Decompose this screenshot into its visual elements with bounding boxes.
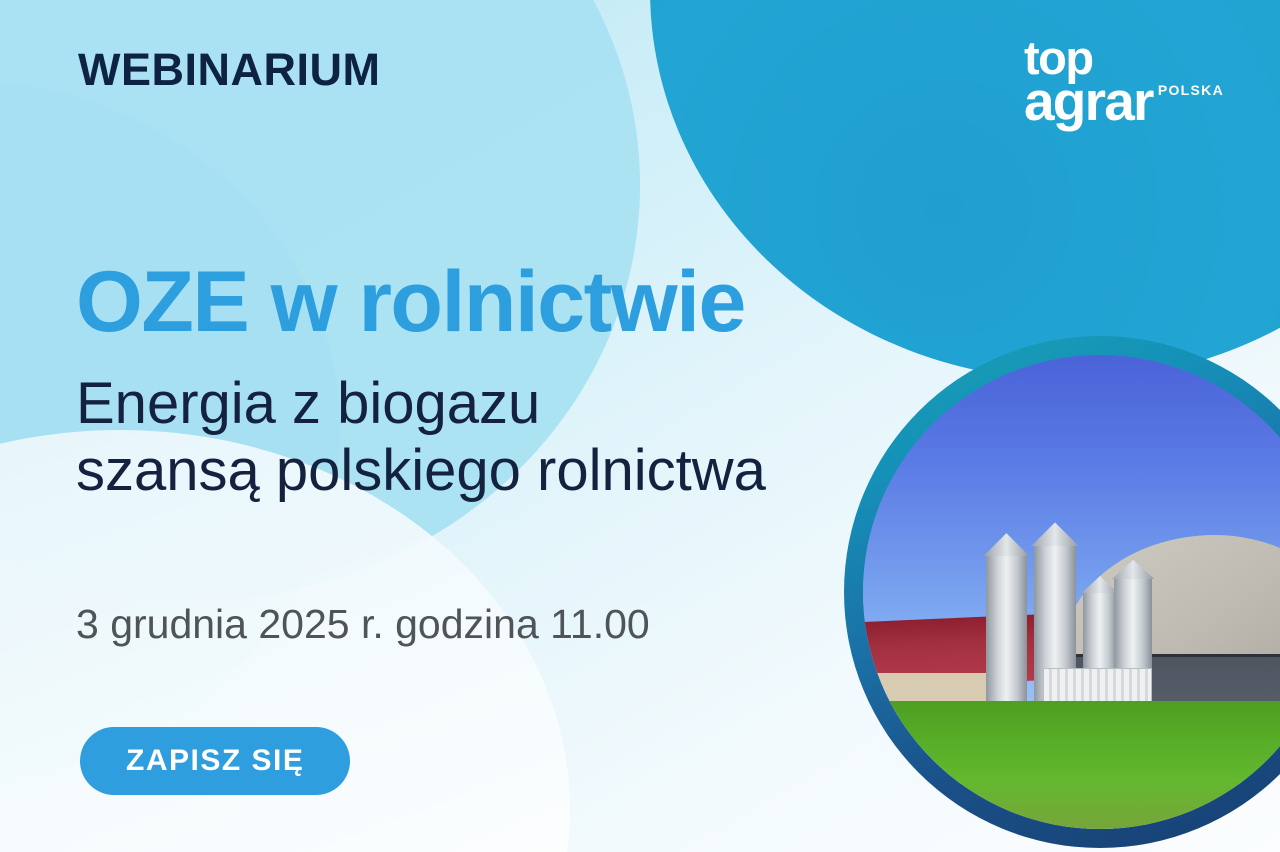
subtitle: Energia z biogazu szansą polskiego rolni… xyxy=(76,370,766,505)
page-title: OZE w rolnictwie xyxy=(76,253,745,352)
photo-silo-1 xyxy=(986,554,1026,715)
biogas-plant-photo xyxy=(863,355,1280,829)
subtitle-line-1: Energia z biogazu xyxy=(76,370,766,437)
webinar-banner: top agrar POLSKA WEBINARIUM OZE w rolnic… xyxy=(0,0,1280,852)
top-agrar-logo[interactable]: top agrar POLSKA xyxy=(1024,36,1224,144)
eyebrow-label: WEBINARIUM xyxy=(78,44,380,96)
event-datetime: 3 grudnia 2025 r. godzina 11.00 xyxy=(76,601,650,648)
subtitle-line-2: szansą polskiego rolnictwa xyxy=(76,437,766,504)
register-button[interactable]: ZAPISZ SIĘ xyxy=(80,727,350,795)
biogas-photo-circle-frame xyxy=(844,336,1280,848)
logo-word-polska: POLSKA xyxy=(1158,82,1224,98)
photo-grass-field xyxy=(863,701,1280,829)
banner-content: WEBINARIUM OZE w rolnictwie Energia z bi… xyxy=(0,0,860,852)
